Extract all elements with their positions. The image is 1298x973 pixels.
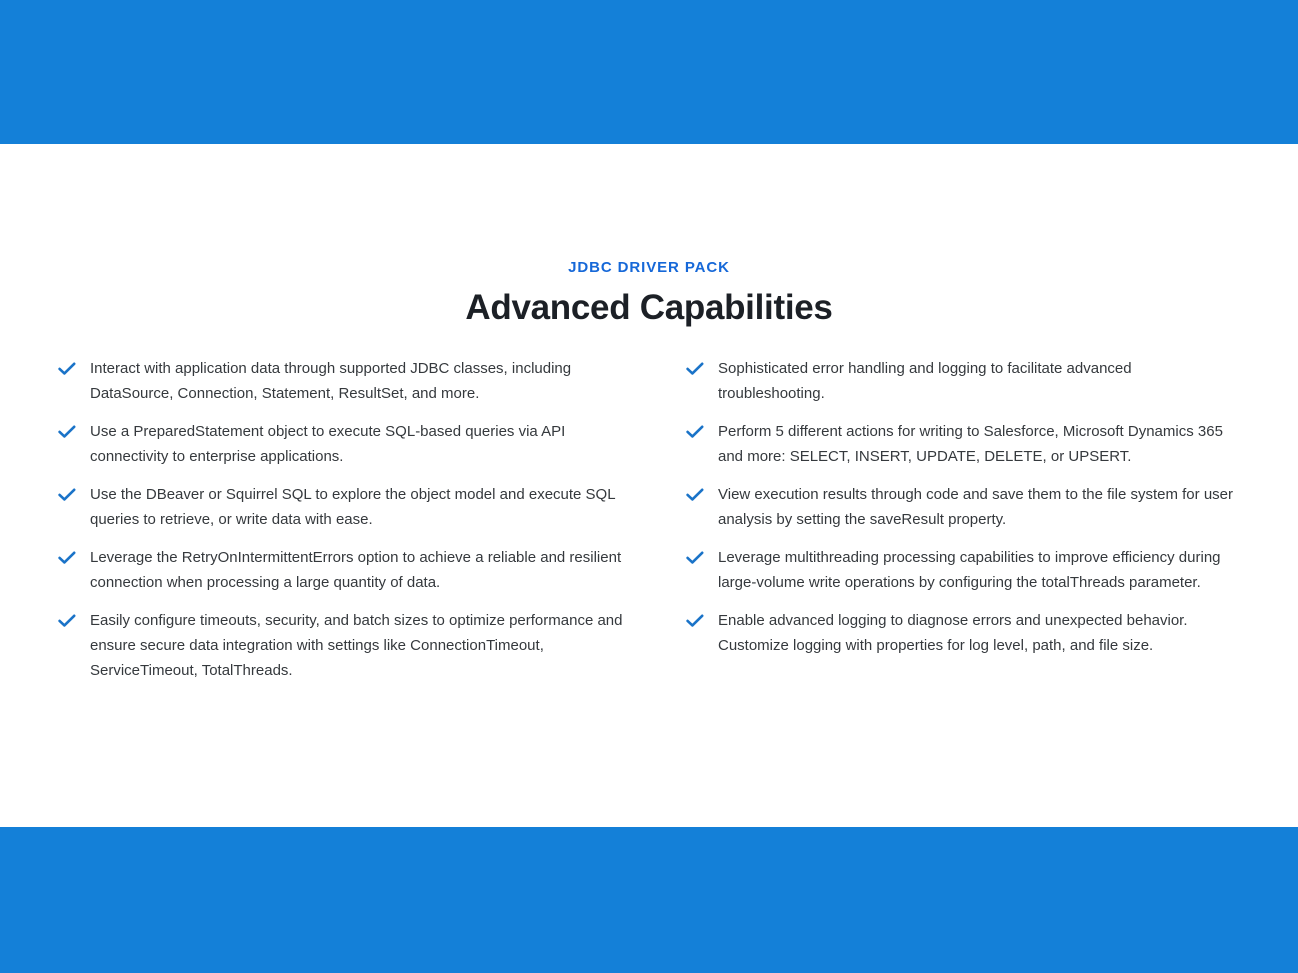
list-item: Sophisticated error handling and logging…: [686, 356, 1242, 406]
list-item-label: Use a PreparedStatement object to execut…: [90, 419, 634, 469]
list-item-label: Leverage the RetryOnIntermittentErrors o…: [90, 545, 634, 595]
list-item: Leverage the RetryOnIntermittentErrors o…: [58, 545, 634, 595]
bottom-color-band: [0, 827, 1298, 973]
page-title: Advanced Capabilities: [0, 286, 1298, 330]
check-icon: [58, 419, 76, 444]
capabilities-column-left: Interact with application data through s…: [58, 356, 658, 683]
list-item-label: Perform 5 different actions for writing …: [718, 419, 1242, 469]
list-item: Leverage multithreading processing capab…: [686, 545, 1242, 595]
list-item-label: Interact with application data through s…: [90, 356, 634, 406]
list-item: Perform 5 different actions for writing …: [686, 419, 1242, 469]
check-icon: [58, 356, 76, 381]
list-item: Use the DBeaver or Squirrel SQL to explo…: [58, 482, 634, 532]
list-item: View execution results through code and …: [686, 482, 1242, 532]
list-item-label: Sophisticated error handling and logging…: [718, 356, 1242, 406]
list-item: Interact with application data through s…: [58, 356, 634, 406]
list-item: Use a PreparedStatement object to execut…: [58, 419, 634, 469]
check-icon: [686, 482, 704, 507]
slide: JDBC DRIVER PACK Advanced Capabilities I…: [0, 0, 1298, 973]
eyebrow-label: JDBC DRIVER PACK: [0, 259, 1298, 277]
list-item-label: Use the DBeaver or Squirrel SQL to explo…: [90, 482, 634, 532]
list-item-label: Easily configure timeouts, security, and…: [90, 608, 634, 683]
slide-header: JDBC DRIVER PACK Advanced Capabilities: [0, 144, 1298, 330]
slide-content: JDBC DRIVER PACK Advanced Capabilities I…: [0, 144, 1298, 827]
list-item-label: Enable advanced logging to diagnose erro…: [718, 608, 1242, 658]
capabilities-column-right: Sophisticated error handling and logging…: [658, 356, 1242, 658]
list-item-label: View execution results through code and …: [718, 482, 1242, 532]
list-item: Enable advanced logging to diagnose erro…: [686, 608, 1242, 658]
check-icon: [58, 545, 76, 570]
check-icon: [58, 482, 76, 507]
check-icon: [686, 608, 704, 633]
capabilities-columns: Interact with application data through s…: [0, 356, 1298, 683]
check-icon: [686, 356, 704, 381]
check-icon: [686, 545, 704, 570]
top-color-band: [0, 0, 1298, 144]
check-icon: [686, 419, 704, 444]
list-item-label: Leverage multithreading processing capab…: [718, 545, 1242, 595]
list-item: Easily configure timeouts, security, and…: [58, 608, 634, 683]
check-icon: [58, 608, 76, 633]
